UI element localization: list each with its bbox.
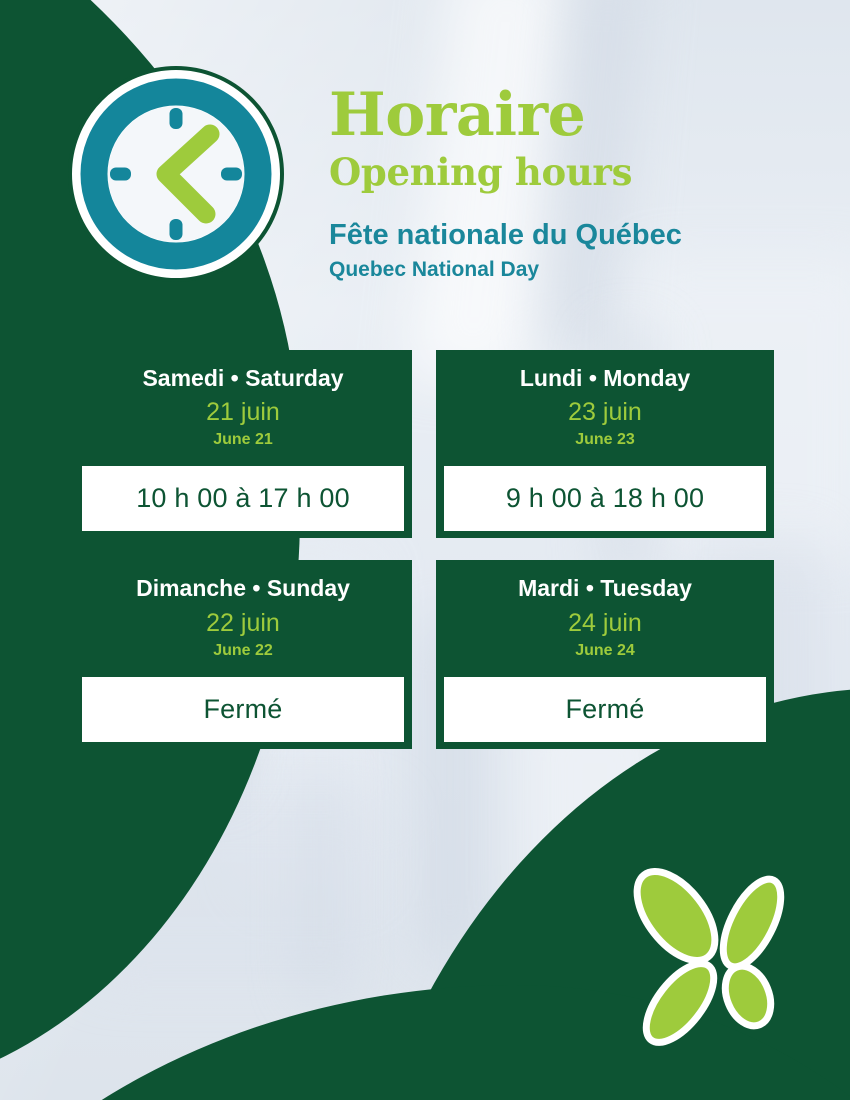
schedule-hours-value: Fermé	[195, 688, 290, 731]
schedule-hours-panel: Fermé	[441, 674, 769, 745]
schedule-card: Mardi • Tuesday 24 juin June 24 Fermé	[436, 560, 774, 748]
schedule-hours-panel: 9 h 00 à 18 h 00	[441, 463, 769, 534]
schedule-card-header: Samedi • Saturday 21 juin June 21	[74, 350, 412, 463]
page-title-en: Opening hours	[329, 150, 799, 194]
schedule-date-en: June 24	[446, 641, 764, 660]
page-subtitle-fr: Fête nationale du Québec	[329, 217, 799, 253]
schedule-date-fr: 23 juin	[446, 397, 764, 427]
schedule-date-en: June 23	[446, 430, 764, 449]
schedule-hours-value: 9 h 00 à 18 h 00	[498, 477, 712, 520]
page-subtitle-en: Quebec National Day	[329, 257, 799, 283]
page-title-fr: Horaire	[329, 84, 799, 146]
schedule-hours-value: 10 h 00 à 17 h 00	[128, 477, 358, 520]
schedule-hours-panel: Fermé	[79, 674, 407, 745]
schedule-date-fr: 24 juin	[446, 608, 764, 638]
schedule-day-label: Dimanche • Sunday	[84, 576, 402, 601]
schedule-day-label: Mardi • Tuesday	[446, 576, 764, 601]
background-blur-shape	[300, 760, 340, 1000]
schedule-date-fr: 22 juin	[84, 608, 402, 638]
butterfly-logo	[618, 858, 808, 1058]
schedule-hours-value: Fermé	[557, 688, 652, 731]
poster-header: Horaire Opening hours Fête nationale du …	[329, 84, 799, 283]
schedule-date-en: June 22	[84, 641, 402, 660]
schedule-card-header: Mardi • Tuesday 24 juin June 24	[436, 560, 774, 673]
schedule-card-header: Dimanche • Sunday 22 juin June 22	[74, 560, 412, 673]
schedule-card: Samedi • Saturday 21 juin June 21 10 h 0…	[74, 350, 412, 538]
schedule-day-label: Lundi • Monday	[446, 366, 764, 391]
schedule-grid: Samedi • Saturday 21 juin June 21 10 h 0…	[74, 350, 774, 749]
schedule-card: Lundi • Monday 23 juin June 23 9 h 00 à …	[436, 350, 774, 538]
schedule-card: Dimanche • Sunday 22 juin June 22 Fermé	[74, 560, 412, 748]
schedule-hours-panel: 10 h 00 à 17 h 00	[79, 463, 407, 534]
schedule-card-header: Lundi • Monday 23 juin June 23	[436, 350, 774, 463]
schedule-date-fr: 21 juin	[84, 397, 402, 427]
schedule-date-en: June 21	[84, 430, 402, 449]
opening-hours-poster: Horaire Opening hours Fête nationale du …	[0, 0, 850, 1100]
schedule-day-label: Samedi • Saturday	[84, 366, 402, 391]
clock-icon	[68, 66, 284, 282]
